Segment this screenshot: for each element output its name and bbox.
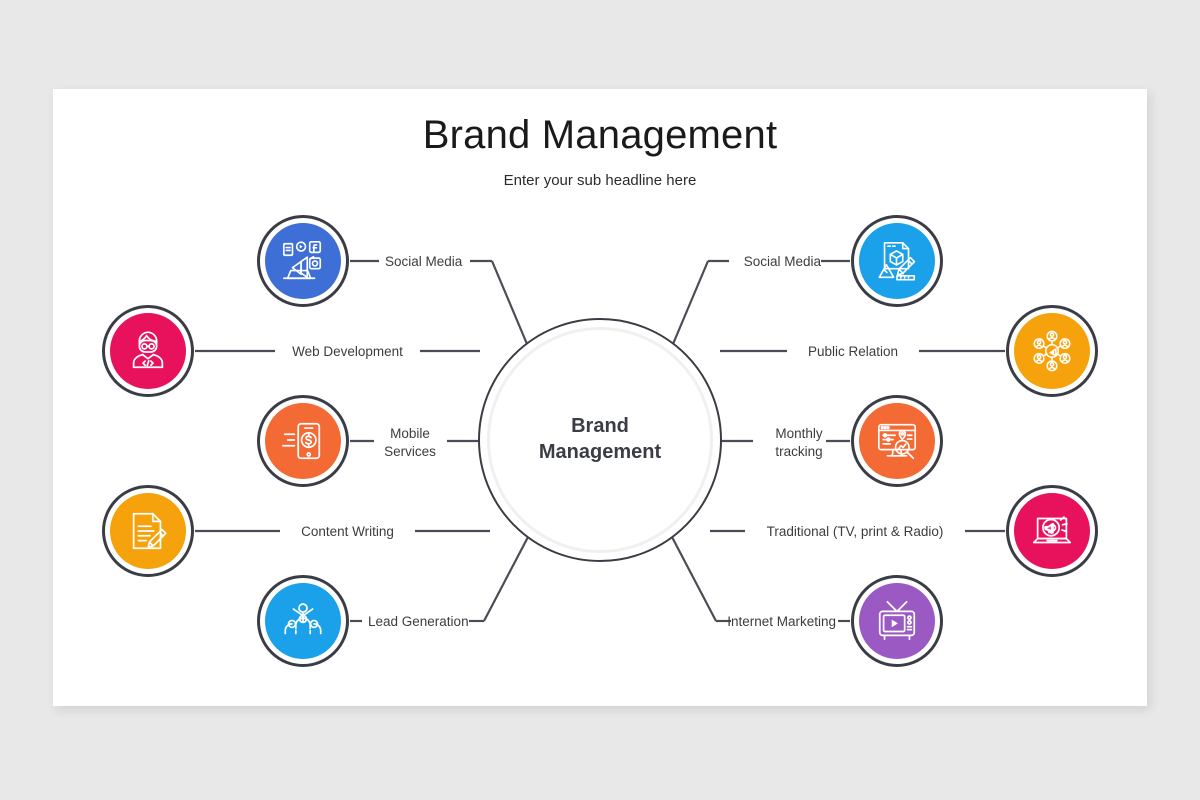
social-media-megaphone-icon [280, 238, 326, 284]
document-pencil-icon [125, 508, 171, 554]
label-right-traditional: Traditional (TV, print & Radio) [745, 523, 965, 541]
slide-stage: Brand Management Enter your sub headline… [0, 0, 1200, 800]
node-right-internet-marketing[interactable] [851, 575, 943, 667]
node-right-social-media[interactable] [851, 215, 943, 307]
node-left-lead-generation-disc [265, 583, 341, 659]
node-left-social-media-disc [265, 223, 341, 299]
node-left-web-development[interactable] [102, 305, 194, 397]
node-right-internet-marketing-disc [859, 583, 935, 659]
mobile-payment-icon [280, 418, 326, 464]
label-left-social-media: Social Media [385, 253, 462, 271]
node-left-mobile-services[interactable] [257, 395, 349, 487]
label-left-mobile-services: Mobile Services [369, 425, 451, 461]
node-left-content-writing-disc [110, 493, 186, 569]
central-hub[interactable]: Brand Management [478, 318, 722, 562]
node-right-social-media-disc [859, 223, 935, 299]
page-subtitle: Enter your sub headline here [0, 172, 1200, 189]
label-left-content-writing: Content Writing [280, 523, 415, 541]
label-left-lead-generation: Lead Generation [368, 613, 469, 631]
node-left-web-development-disc [110, 313, 186, 389]
web-developer-icon [125, 328, 171, 374]
hub-label: Brand Management [515, 414, 685, 465]
monitor-analytics-icon [874, 418, 920, 464]
label-right-monthly-tracking-line1: Monthly [757, 425, 841, 443]
hub-label-line2: Management [515, 440, 685, 466]
node-left-lead-generation[interactable] [257, 575, 349, 667]
node-right-traditional[interactable] [1006, 485, 1098, 577]
laptop-megaphone-icon [1029, 508, 1075, 554]
node-right-monthly-tracking-disc [859, 403, 935, 479]
label-right-social-media: Social Media [725, 253, 821, 271]
node-right-monthly-tracking[interactable] [851, 395, 943, 487]
label-right-monthly-tracking: Monthly tracking [757, 425, 841, 461]
label-right-public-relation: Public Relation [787, 343, 919, 361]
node-left-content-writing[interactable] [102, 485, 194, 577]
node-right-public-relation[interactable] [1006, 305, 1098, 397]
people-group-icon [280, 598, 326, 644]
network-people-icon [1029, 328, 1075, 374]
label-left-web-development: Web Development [275, 343, 420, 361]
design-blueprint-icon [874, 238, 920, 284]
page-title: Brand Management [0, 113, 1200, 157]
node-right-traditional-disc [1014, 493, 1090, 569]
label-right-monthly-tracking-line2: tracking [757, 443, 841, 461]
node-left-mobile-services-disc [265, 403, 341, 479]
television-icon [874, 598, 920, 644]
node-right-public-relation-disc [1014, 313, 1090, 389]
label-left-mobile-services-line1: Mobile [369, 425, 451, 443]
node-left-social-media[interactable] [257, 215, 349, 307]
label-left-mobile-services-line2: Services [369, 443, 451, 461]
label-right-internet-marketing: Internet Marketing [716, 613, 836, 631]
hub-label-line1: Brand [515, 414, 685, 440]
